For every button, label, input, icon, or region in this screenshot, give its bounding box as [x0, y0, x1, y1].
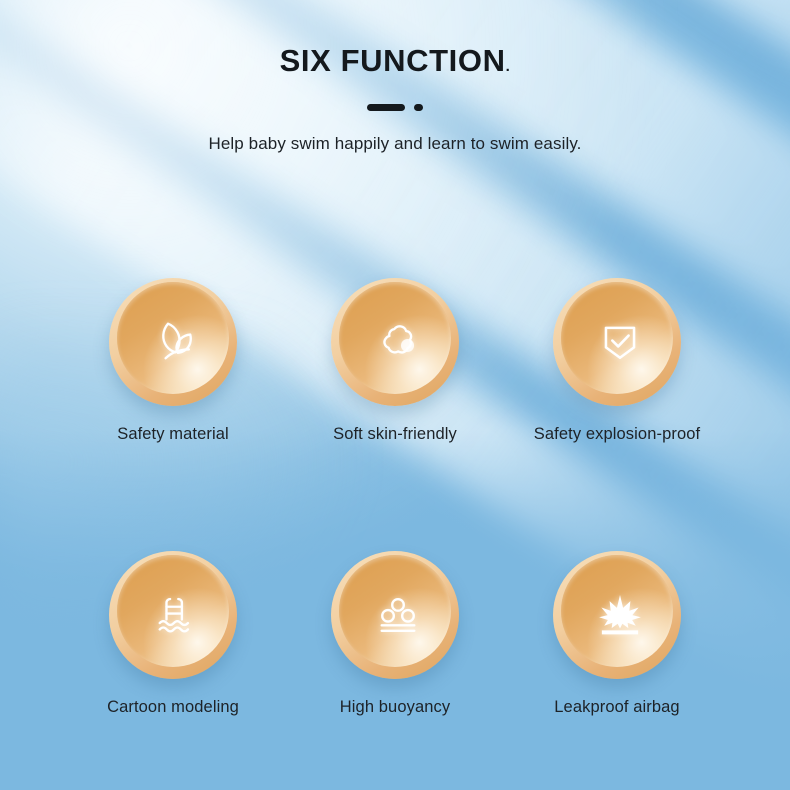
- feature-label: Safety material: [117, 425, 229, 444]
- feature-item-leakproof-airbag[interactable]: Leakproof airbag: [506, 549, 728, 717]
- feature-badge: [331, 276, 459, 404]
- leaf-icon: [147, 312, 205, 370]
- title-divider: [367, 103, 423, 112]
- feature-badge: [553, 549, 681, 677]
- divider-dot: [414, 104, 423, 111]
- feature-badge: [331, 549, 459, 677]
- swimming-pool-ladder-icon: [147, 585, 205, 643]
- divider-dash: [367, 104, 405, 111]
- page-title: SIX FUNCTION.: [0, 44, 790, 78]
- cloud-icon: [369, 312, 427, 370]
- feature-item-safety-material[interactable]: Safety material: [62, 276, 284, 444]
- feature-item-cartoon-modeling[interactable]: Cartoon modeling: [62, 549, 284, 717]
- feature-label: Soft skin-friendly: [333, 425, 457, 444]
- feature-label: High buoyancy: [340, 698, 450, 717]
- feature-item-safety-explosion-proof[interactable]: Safety explosion-proof: [506, 276, 728, 444]
- feature-item-soft-skin-friendly[interactable]: Soft skin-friendly: [284, 276, 506, 444]
- explosion-burst-icon: [591, 585, 649, 643]
- feature-label: Safety explosion-proof: [534, 425, 700, 444]
- feature-item-high-buoyancy[interactable]: High buoyancy: [284, 549, 506, 717]
- feature-grid: Safety material Soft skin-friendly: [62, 276, 728, 717]
- poster-root: SIX FUNCTION. Help baby swim happily and…: [0, 0, 790, 790]
- page-title-period: .: [506, 58, 511, 75]
- header: SIX FUNCTION. Help baby swim happily and…: [0, 44, 790, 154]
- feature-label: Cartoon modeling: [107, 698, 239, 717]
- bubbles-float-icon: [369, 585, 427, 643]
- feature-badge: [109, 276, 237, 404]
- feature-badge: [553, 276, 681, 404]
- shield-check-icon: [591, 312, 649, 370]
- page-title-text: SIX FUNCTION: [280, 43, 506, 78]
- feature-label: Leakproof airbag: [554, 698, 679, 717]
- feature-badge: [109, 549, 237, 677]
- page-subtitle: Help baby swim happily and learn to swim…: [0, 134, 790, 154]
